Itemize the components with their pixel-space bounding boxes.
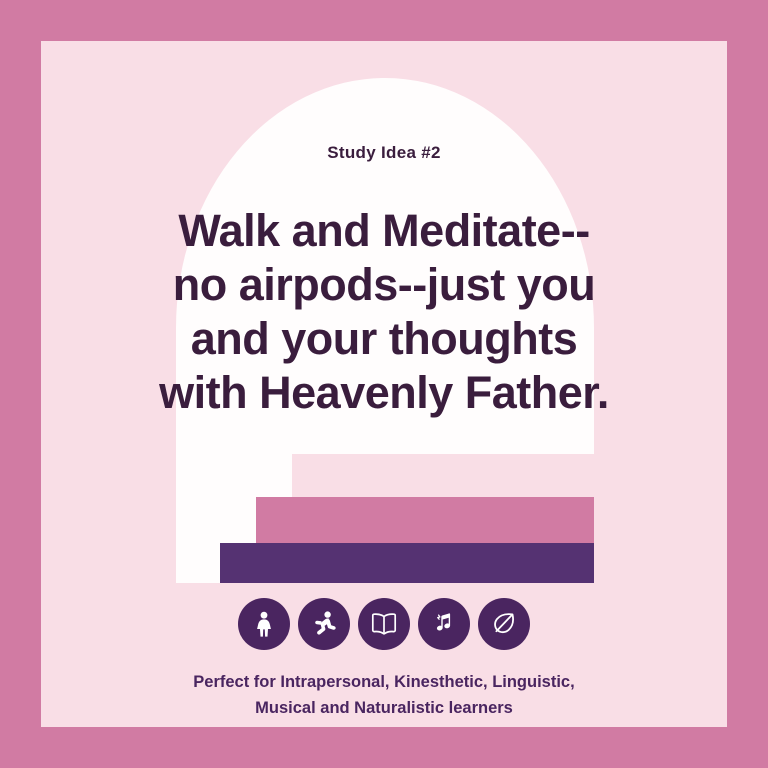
running-person-icon — [298, 598, 350, 650]
eyebrow-label: Study Idea #2 — [41, 143, 727, 163]
learner-icon-row — [41, 598, 727, 650]
headline-text: Walk and Meditate-- no airpods--just you… — [137, 204, 631, 420]
music-notes-icon — [418, 598, 470, 650]
stair-step-purple — [220, 543, 594, 583]
caption-text: Perfect for Intrapersonal, Kinesthetic, … — [94, 669, 674, 721]
leaf-icon — [478, 598, 530, 650]
person-icon — [238, 598, 290, 650]
stair-step-pink — [256, 497, 594, 543]
open-book-icon — [358, 598, 410, 650]
poster-canvas: Study Idea #2 Walk and Meditate-- no air… — [0, 0, 768, 768]
poster-card: Study Idea #2 Walk and Meditate-- no air… — [41, 41, 727, 727]
stair-step-light — [292, 454, 594, 498]
